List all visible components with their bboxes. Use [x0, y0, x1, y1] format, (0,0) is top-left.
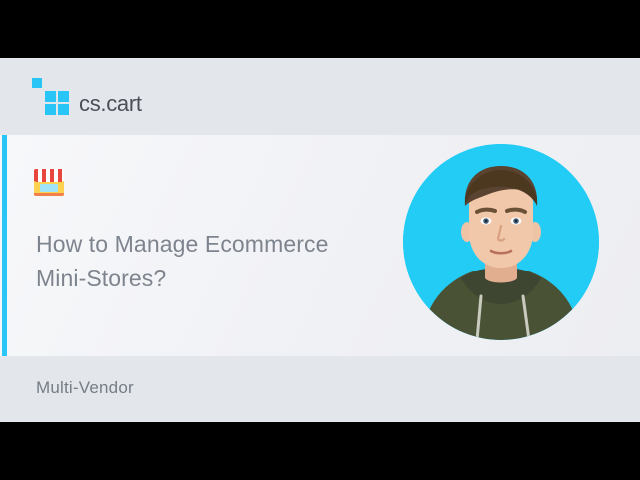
presentation-slide: cs.cart How to Manage Ecommerce Mini-Sto… — [0, 58, 640, 422]
slide-content-card: How to Manage Ecommerce Mini-Stores? — [0, 135, 640, 356]
logo-square-bottom-left — [45, 104, 56, 115]
store-emoji-icon — [33, 165, 65, 197]
store-window — [40, 184, 58, 192]
brand-wordmark: cs.cart — [79, 81, 142, 115]
page-title-line-1: How to Manage Ecommerce — [36, 227, 396, 261]
logo-square-top-left — [45, 91, 56, 102]
page-title-line-2: Mini-Stores? — [36, 261, 396, 295]
accent-bar — [2, 135, 7, 356]
logo-square-bottom-right — [58, 104, 69, 115]
product-label: Multi-Vendor — [36, 378, 134, 398]
cs-cart-squares-logo-icon — [32, 78, 70, 118]
slide-header: cs.cart — [0, 58, 640, 135]
slide-footer: Multi-Vendor — [0, 356, 640, 422]
logo-square-detached — [32, 78, 42, 88]
letterbox-bar-bottom — [0, 422, 640, 480]
presenter-portrait-avatar — [403, 144, 599, 340]
page-title: How to Manage Ecommerce Mini-Stores? — [36, 227, 396, 295]
store-awning-edge — [34, 179, 64, 182]
logo-square-top-right — [58, 91, 69, 102]
video-frame: cs.cart How to Manage Ecommerce Mini-Sto… — [0, 0, 640, 480]
brand-logo: cs.cart — [32, 78, 142, 118]
letterbox-bar-top — [0, 0, 640, 58]
store-base — [34, 193, 64, 196]
